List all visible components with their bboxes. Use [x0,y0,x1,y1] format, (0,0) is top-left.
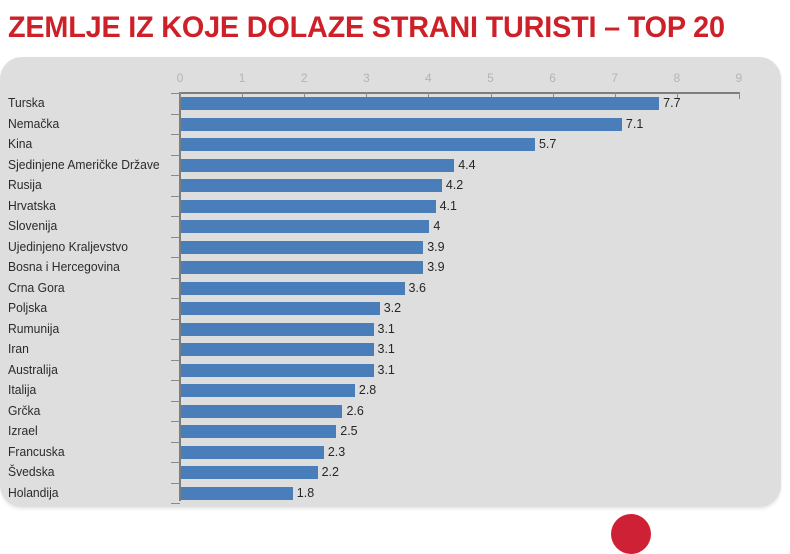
category-label: Ujedinjeno Kraljevstvo [8,241,175,254]
category-labels: TurskaNemačkaKinaSjedinjene Američke Drž… [8,57,180,507]
category-label: Bosna i Hercegovina [8,261,175,274]
bar-value-label: 2.3 [328,446,345,459]
category-label: Poljska [8,302,175,315]
bar-value-label: 4.2 [446,179,463,192]
x-axis-line [180,92,739,94]
bar-value-label: 5.7 [539,138,556,151]
bar [181,179,442,192]
bar-value-label: 2.8 [359,384,376,397]
bar-value-label: 3.6 [409,282,426,295]
category-label: Izrael [8,425,175,438]
plot-area: 0123456789 TurskaNemačkaKinaSjedinjene A… [0,57,781,507]
category-label: Rumunija [8,323,175,336]
x-tick-label-8: 8 [673,71,680,85]
page-title: ZEMLJE IZ KOJE DOLAZE STRANI TURISTI – T… [8,8,751,48]
category-label: Italija [8,384,175,397]
x-tick-label-3: 3 [363,71,370,85]
category-label: Nemačka [8,118,175,131]
x-tick-label-4: 4 [425,71,432,85]
bar-value-label: 3.1 [378,364,395,377]
category-label: Turska [8,97,175,110]
category-label: Grčka [8,405,175,418]
red-circle-logo [611,514,651,554]
bar [181,118,622,131]
bar [181,487,293,500]
bar [181,446,324,459]
x-tick-label-5: 5 [487,71,494,85]
category-label: Sjedinjene Američke Države [8,159,175,172]
bar [181,323,374,336]
category-label: Iran [8,343,175,356]
bar [181,241,423,254]
x-tick-label-9: 9 [736,71,743,85]
bar-value-label: 2.5 [340,425,357,438]
bar-value-label: 4.1 [440,200,457,213]
bar-value-label: 4 [433,220,440,233]
x-tick-label-6: 6 [549,71,556,85]
bar [181,159,454,172]
bar-value-label: 4.4 [458,159,475,172]
bar-value-label: 2.6 [346,405,363,418]
bar-value-label: 7.1 [626,118,643,131]
bar-value-label: 3.9 [427,261,444,274]
x-tick-label-2: 2 [301,71,308,85]
bar [181,343,374,356]
bar-value-label: 7.7 [663,97,680,110]
bar [181,364,374,377]
category-label: Australija [8,364,175,377]
bar-value-label: 2.2 [322,466,339,479]
bar-value-label: 1.8 [297,487,314,500]
bar-value-label: 3.1 [378,343,395,356]
bar [181,138,535,151]
category-label: Hrvatska [8,200,175,213]
x-tick-label-1: 1 [239,71,246,85]
bar [181,97,659,110]
bar-value-label: 3.9 [427,241,444,254]
bar-value-label: 3.1 [378,323,395,336]
bar [181,200,436,213]
bar [181,302,380,315]
category-label: Švedska [8,466,175,479]
chart-panel: 0123456789 TurskaNemačkaKinaSjedinjene A… [0,57,781,507]
bar [181,261,423,274]
bar [181,425,336,438]
x-tick-9 [739,92,740,99]
bar [181,384,355,397]
bar [181,466,318,479]
bar-value-label: 3.2 [384,302,401,315]
category-label: Francuska [8,446,175,459]
bar [181,282,405,295]
category-label: Crna Gora [8,282,175,295]
x-tick-label-7: 7 [611,71,618,85]
category-label: Slovenija [8,220,175,233]
bar [181,220,429,233]
category-label: Rusija [8,179,175,192]
category-label: Kina [8,138,175,151]
category-label: Holandija [8,487,175,500]
bar [181,405,342,418]
